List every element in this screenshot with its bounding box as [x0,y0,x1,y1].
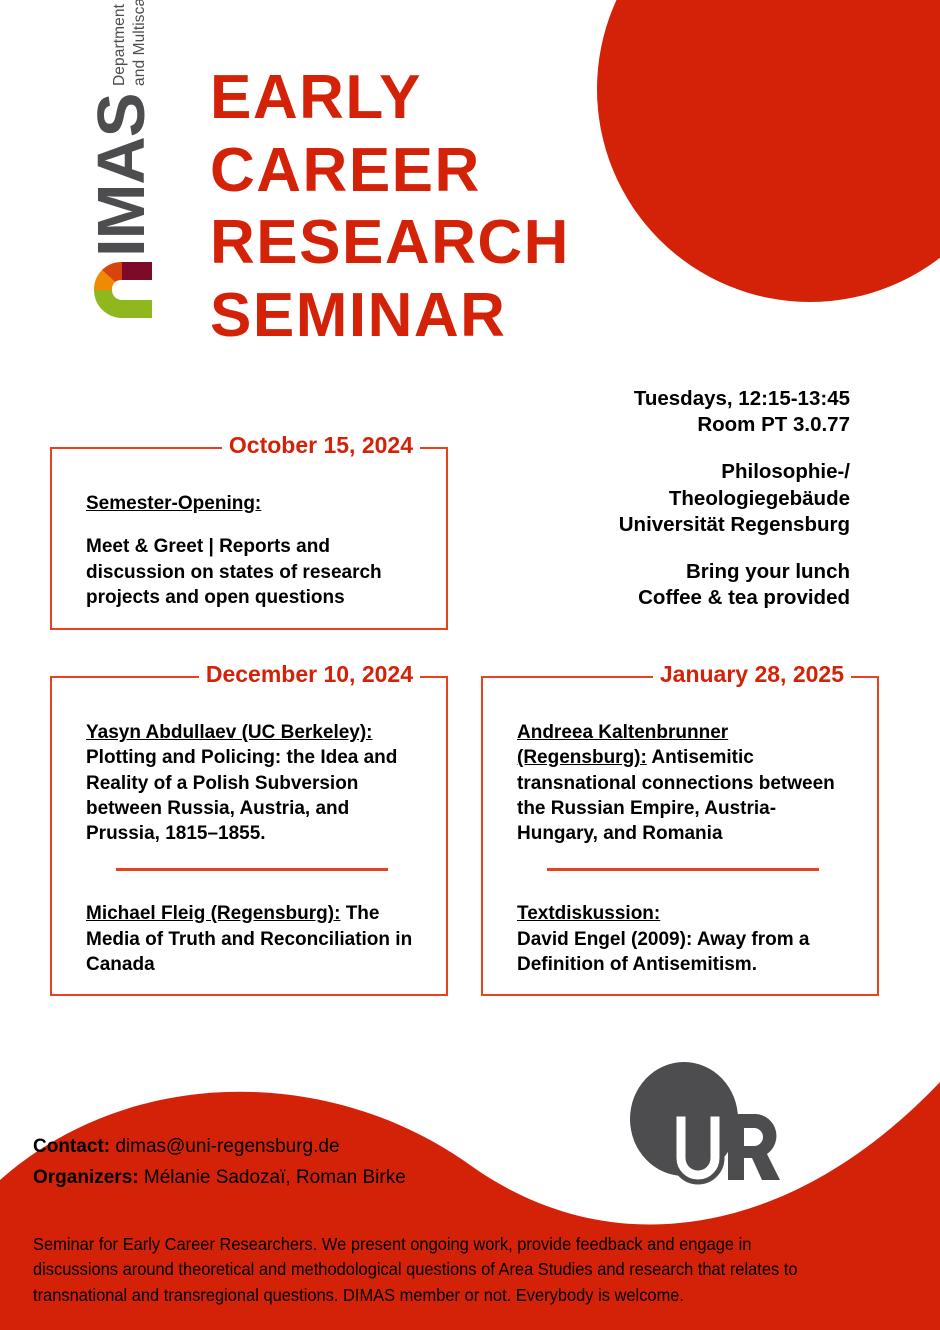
dimas-logo: IMAS Department for Interdisciplinary an… [56,58,201,348]
catering-notes: Bring your lunch Coffee & tea provided [619,559,850,611]
event-entry: Michael Fleig (Regensburg): The Media of… [86,901,418,977]
venue-line-1: Philosophie-/ [619,459,850,485]
event-box-january: January 28, 2025 Andreea Kaltenbrunner (… [481,676,879,996]
headline-line-3: RESEARCH [210,207,570,280]
page-title: EARLY CAREER RESEARCH SEMINAR [210,62,570,352]
contact-label: Contact: [33,1136,110,1157]
headline-line-4: SEMINAR [210,280,570,353]
schedule-info: Tuesdays, 12:15-13:45 Room PT 3.0.77 [619,386,850,438]
venue-line-3: Universität Regensburg [619,512,850,538]
organizers-names: Mélanie Sadozaï, Roman Birke [139,1167,406,1188]
contact-line: Contact: dimas@uni-regensburg.de [33,1132,406,1163]
event-body-december: Yasyn Abdullaev (UC Berkeley): Plotting … [52,678,446,997]
event-body-january: Andreea Kaltenbrunner (Regensburg): Anti… [483,678,877,997]
venue-line-2: Theologiegebäude [619,486,850,512]
event-entry-text: David Engel (2009): Away from a Definiti… [517,929,810,975]
event-date-january: January 28, 2025 [653,663,851,686]
event-date-december: December 10, 2024 [199,663,420,686]
organizers-label: Organizers: [33,1167,139,1188]
schedule-time: Tuesdays, 12:15-13:45 [619,386,850,412]
event-divider [547,868,819,871]
dimas-subtitle: Department for Interdisciplinary and Mul… [110,0,150,86]
headline-line-1: EARLY [210,62,570,135]
event-entry-heading: Semester-Opening: [86,493,261,514]
event-entry-heading: Michael Fleig (Regensburg): [86,903,340,924]
event-box-october: October 15, 2024 Semester-Opening: Meet … [50,447,448,630]
event-entry-heading: Yasyn Abdullaev (UC Berkeley): [86,722,373,743]
catering-note-2: Coffee & tea provided [619,585,850,611]
event-entry: Textdiskussion: David Engel (2009): Away… [517,901,849,977]
event-entry: Andreea Kaltenbrunner (Regensburg): Anti… [517,720,849,846]
dimas-letters: IMAS [88,94,155,258]
event-entry-text: Plotting and Policing: the Idea and Real… [86,747,397,844]
event-box-december: December 10, 2024 Yasyn Abdullaev (UC Be… [50,676,448,996]
footer-description: Seminar for Early Career Researchers. We… [33,1232,832,1308]
contact-email[interactable]: dimas@uni-regensburg.de [110,1136,339,1157]
event-entry: Yasyn Abdullaev (UC Berkeley): Plotting … [86,720,418,846]
venue-info: Philosophie-/ Theologiegebäude Universit… [619,459,850,538]
event-date-october: October 15, 2024 [222,434,420,457]
organizers-line: Organizers: Mélanie Sadozaï, Roman Birke [33,1163,406,1194]
dimas-wordmark: IMAS [56,58,186,320]
dimas-arch-icon [90,260,152,320]
event-divider [116,868,388,871]
headline-line-2: CAREER [210,135,570,208]
event-entry-text: Meet & Greet | Reports and discussion on… [86,534,418,610]
footer-contact: Contact: dimas@uni-regensburg.de Organiz… [33,1132,406,1194]
spacer [86,516,418,534]
seminar-meta-info: Tuesdays, 12:15-13:45 Room PT 3.0.77 Phi… [619,386,850,612]
poster: IMAS Department for Interdisciplinary an… [0,0,940,1330]
top-right-red-circle-decoration [597,0,940,302]
schedule-room: Room PT 3.0.77 [619,412,850,438]
event-entry-heading: Textdiskussion: [517,903,660,924]
event-entry: Semester-Opening: [86,491,418,516]
dimas-subtitle-line-2: and Multiscalar Area Studies [130,0,150,86]
event-body-october: Semester-Opening: Meet & Greet | Reports… [52,449,446,630]
ur-logo [622,1062,792,1187]
dimas-subtitle-line-1: Department for Interdisciplinary [110,0,130,86]
catering-note-1: Bring your lunch [619,559,850,585]
